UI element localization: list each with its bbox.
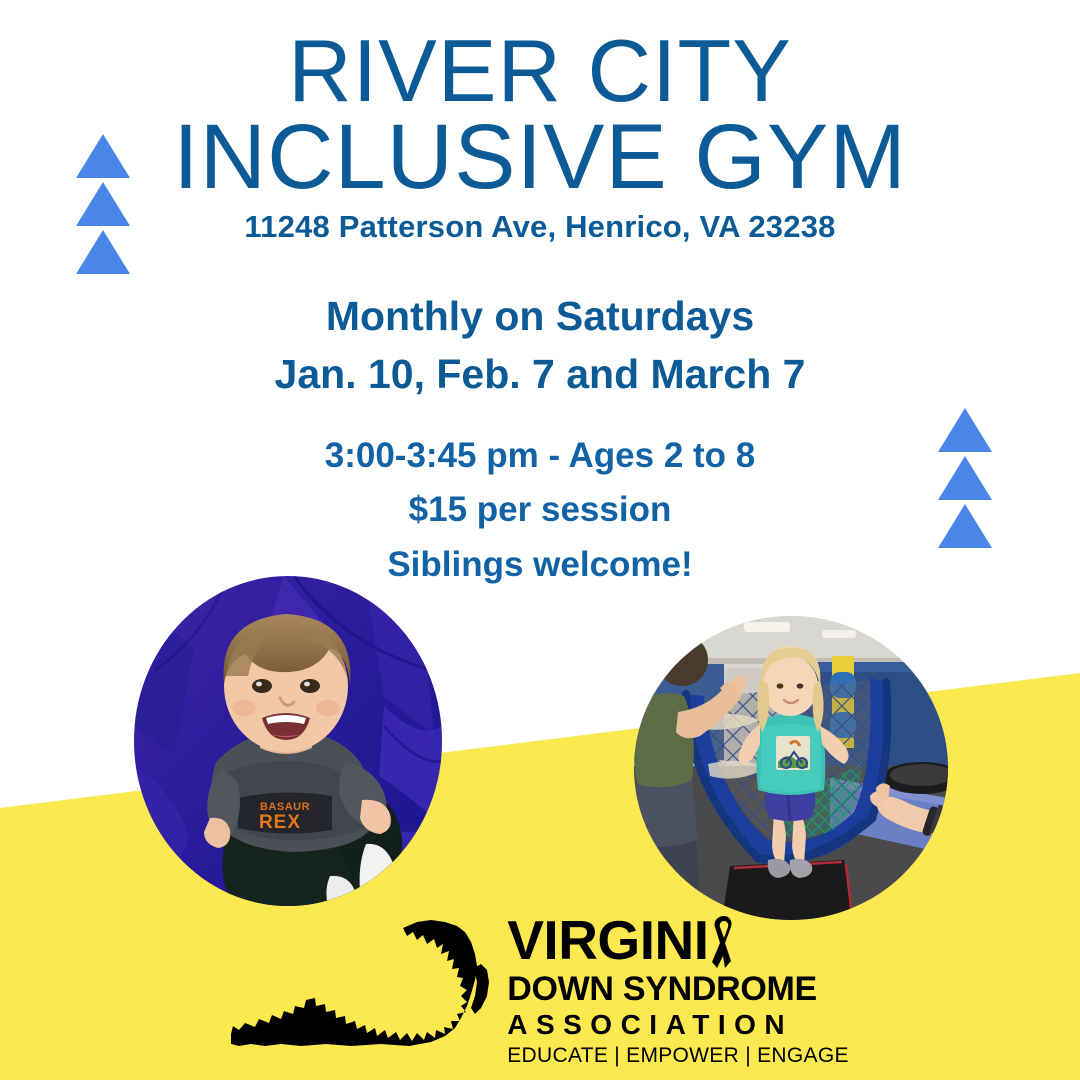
logo-wordmark: VIRGINI DOWN SYNDROME ASSOCIATION EDUCAT… [507,913,849,1066]
svg-text:REX: REX [259,812,301,833]
logo-virginia-text: VIRGINI [507,913,708,968]
session-details-block: 3:00-3:45 pm - Ages 2 to 8 $15 per sessi… [0,429,1080,592]
logo-tagline: EDUCATE | EMPOWER | ENGAGE [507,1045,849,1066]
logo-down-syndrome-text: DOWN SYNDROME [507,972,817,1006]
detail-price: $15 per session [0,483,1080,537]
venue-address: 11248 Patterson Ave, Henrico, VA 23238 [0,209,1080,245]
logo-virginia-line: VIRGINI [507,913,739,968]
detail-siblings: Siblings welcome! [0,538,1080,592]
virginia-map-heart-icon [231,920,493,1060]
photo-right-artwork [634,616,948,920]
schedule-frequency: Monthly on Saturdays [0,287,1080,345]
detail-time-ages: 3:00-3:45 pm - Ages 2 to 8 [0,429,1080,483]
poster-text-block: RIVER CITY INCLUSIVE GYM 11248 Patterson… [0,0,1080,592]
photo-boy-on-parachute: BASAUR REX [134,576,442,906]
title-line-2: INCLUSIVE GYM [0,113,1080,202]
photo-girl-on-rope-bridge [634,616,948,920]
page-title: RIVER CITY INCLUSIVE GYM [0,0,1080,203]
photo-left-artwork: BASAUR REX [134,576,442,906]
virginia-map-svg [231,920,493,1060]
awareness-ribbon-icon [709,916,739,968]
schedule-block: Monthly on Saturdays Jan. 10, Feb. 7 and… [0,287,1080,403]
poster-canvas: RIVER CITY INCLUSIVE GYM 11248 Patterson… [0,0,1080,1080]
title-line-1: RIVER CITY [0,28,1080,113]
schedule-dates: Jan. 10, Feb. 7 and March 7 [0,345,1080,403]
logo-association-text: ASSOCIATION [507,1011,793,1039]
vdsa-logo: VIRGINI DOWN SYNDROME ASSOCIATION EDUCAT… [0,913,1080,1066]
